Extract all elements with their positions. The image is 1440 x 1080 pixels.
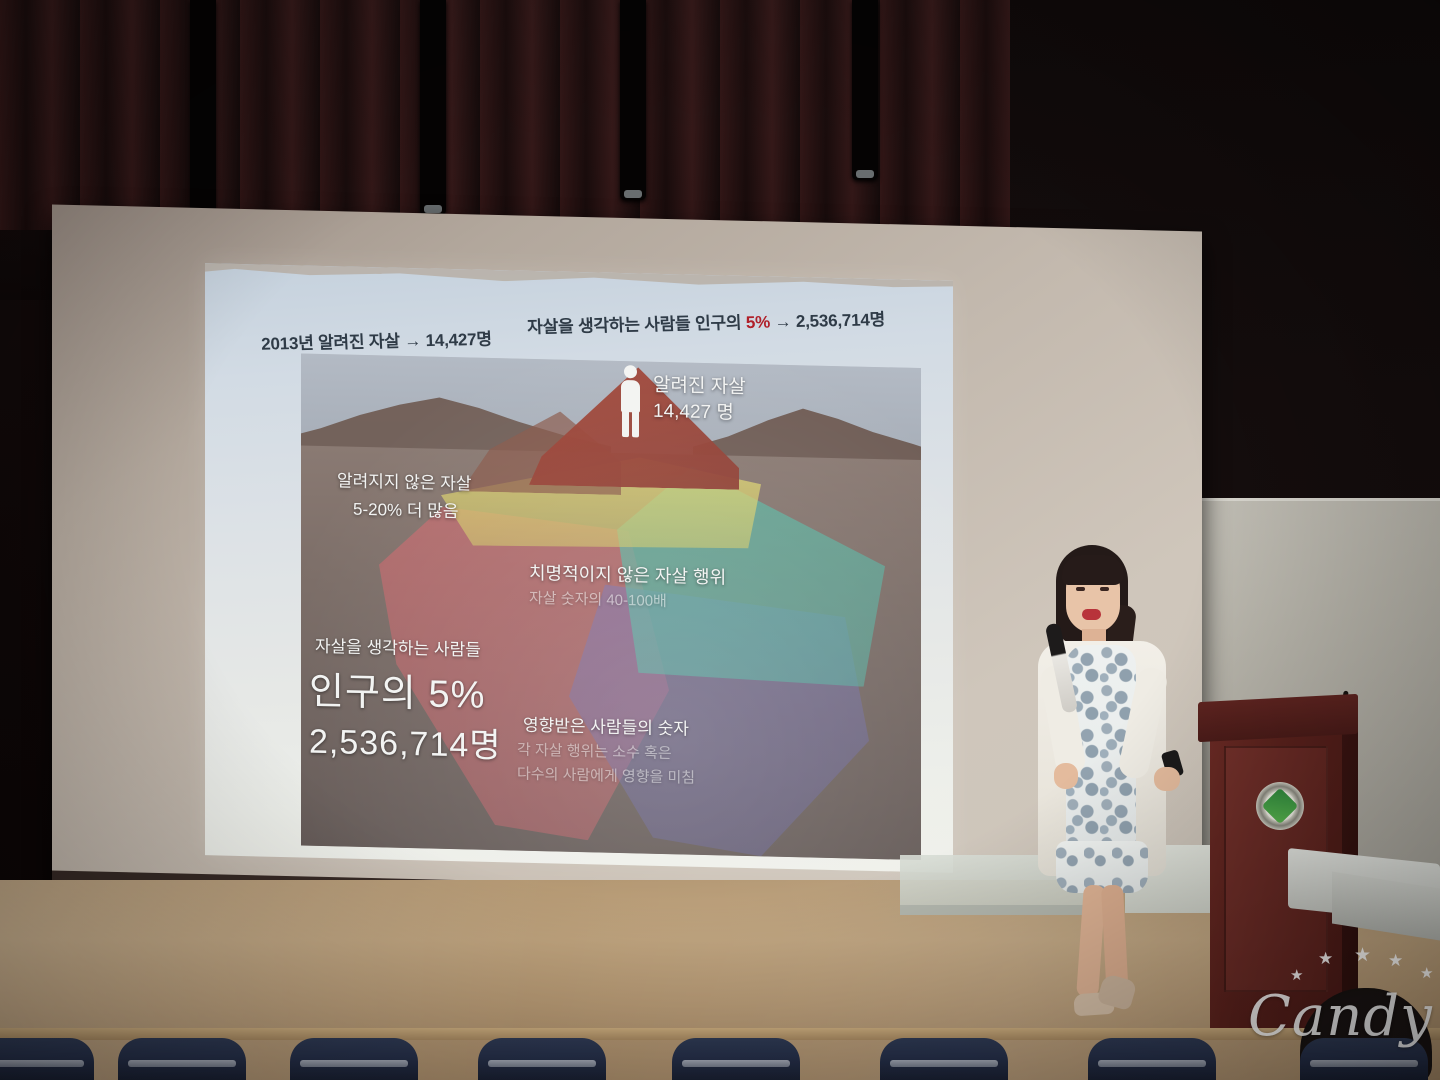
audience-chair	[478, 1038, 606, 1080]
label-unknown-suicide-title: 알려지지 않은 자살	[337, 466, 472, 494]
slide-header: 2013년 알려진 자살 → 14,427명 자살을 생각하는 사람들 인구의 …	[205, 279, 953, 365]
institution-emblem-icon	[1256, 782, 1304, 830]
audience-chair	[290, 1038, 418, 1080]
label-ideation-percent: 인구의 5%	[309, 660, 485, 719]
audience-chair	[1300, 1038, 1428, 1080]
label-known-suicide-value: 14,427 명	[653, 396, 734, 425]
label-affected-line1: 각 자살 행위는 소수 혹은	[517, 739, 672, 764]
person-leg-left	[622, 410, 629, 437]
label-ideation-count: 2,536,714명	[309, 714, 502, 768]
presenter-dress-ruffle	[1056, 841, 1148, 893]
label-nonfatal-acts-value: 자살 숫자의 40-100배	[529, 587, 667, 611]
header-ideation-suffix: → 2,536,714명	[770, 310, 886, 332]
presenter-eye-right	[1100, 587, 1109, 591]
person-head	[624, 365, 637, 378]
iceberg-infographic: 알려진 자살 14,427 명 알려지지 않은 자살 5-20% 더 많음 치명…	[301, 353, 921, 860]
presenter-hand-left	[1054, 763, 1078, 789]
stage-light-icon	[190, 0, 216, 232]
stage-light-icon	[852, 0, 878, 180]
label-ideation-title: 자살을 생각하는 사람들	[315, 632, 481, 661]
presenter-lips	[1082, 609, 1101, 620]
header-ideation-percent: 5%	[745, 313, 770, 333]
podium-top-surface	[1198, 694, 1358, 742]
person-leg-right	[632, 410, 639, 437]
header-line-known-suicide: 2013년 알려진 자살 → 14,427명	[261, 325, 493, 355]
presenter-hand-right	[1154, 767, 1180, 791]
audience-chair	[118, 1038, 246, 1080]
audience-chair	[880, 1038, 1008, 1080]
presenter	[1020, 545, 1210, 1045]
lecture-hall-photo: 2013년 알려진 자살 → 14,427명 자살을 생각하는 사람들 인구의 …	[0, 0, 1440, 1080]
label-unknown-suicide-value: 5-20% 더 많음	[353, 495, 459, 522]
header-line-ideation: 자살을 생각하는 사람들 인구의 5% → 2,536,714명	[527, 305, 886, 338]
stage-light-icon	[620, 0, 646, 200]
audience-chair	[1088, 1038, 1216, 1080]
label-nonfatal-acts-title: 치명적이지 않은 자살 행위	[529, 559, 726, 590]
presenter-fringe	[1062, 555, 1124, 585]
label-affected-title: 영향받은 사람들의 숫자	[523, 711, 689, 740]
person-body	[621, 380, 640, 412]
audience-chair	[0, 1038, 94, 1080]
audience-seating-row	[0, 1034, 1440, 1080]
person-figure-icon	[619, 365, 641, 438]
label-known-suicide-title: 알려진 자살	[653, 370, 746, 399]
presenter-eye-left	[1076, 587, 1085, 591]
audience-chair	[672, 1038, 800, 1080]
stage-light-icon	[420, 0, 446, 215]
label-affected-line2: 다수의 사람에게 영향을 미침	[517, 763, 695, 788]
header-ideation-prefix: 자살을 생각하는 사람들 인구의	[527, 313, 746, 337]
projected-slide: 2013년 알려진 자살 → 14,427명 자살을 생각하는 사람들 인구의 …	[205, 263, 953, 873]
